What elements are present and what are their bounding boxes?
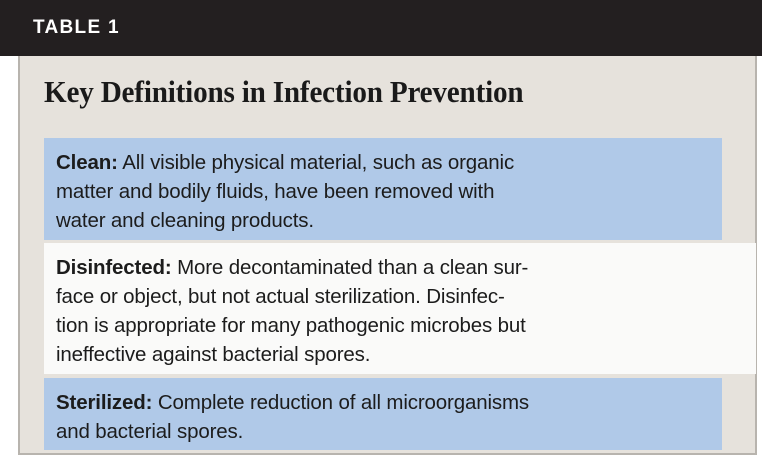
definition-text-disinfected-line-3: tion is appropriate for many pathogenic … bbox=[56, 311, 756, 340]
definition-text-clean-line-1: All visible physical material, such as o… bbox=[122, 151, 514, 174]
table-title: Key Definitions in Infection Prevention bbox=[44, 74, 683, 110]
definition-text-disinfected-line-1: More decontaminated than a clean sur- bbox=[177, 256, 528, 279]
definition-term-clean: Clean: bbox=[56, 151, 118, 174]
definition-text-disinfected-line-2: face or object, but not actual steriliza… bbox=[56, 282, 756, 311]
definition-term-disinfected: Disinfected: bbox=[56, 256, 172, 279]
definition-row-clean: Clean: All visible physical material, su… bbox=[44, 138, 722, 240]
definition-row-disinfected: Disinfected: More decontaminated than a … bbox=[44, 243, 756, 374]
definition-term-sterilized: Sterilized: bbox=[56, 391, 152, 414]
definition-text-disinfected-line-4: ineffective against bacterial spores. bbox=[56, 340, 756, 369]
definition-text-sterilized-line-2: and bacterial spores. bbox=[56, 417, 710, 446]
definition-text-clean-line-3: water and cleaning products. bbox=[56, 206, 710, 235]
table-header-bar: TABLE 1 bbox=[0, 0, 762, 56]
table-card: TABLE 1 Key Definitions in Infection Pre… bbox=[0, 0, 762, 458]
definition-text-sterilized-line-1: Complete reduction of all microorganisms bbox=[158, 391, 529, 414]
definition-text-clean-line-2: matter and bodily fluids, have been remo… bbox=[56, 177, 710, 206]
definition-row-sterilized: Sterilized: Complete reduction of all mi… bbox=[44, 378, 722, 450]
table-body: Key Definitions in Infection Prevention … bbox=[18, 56, 757, 455]
table-number-label: TABLE 1 bbox=[33, 17, 120, 39]
